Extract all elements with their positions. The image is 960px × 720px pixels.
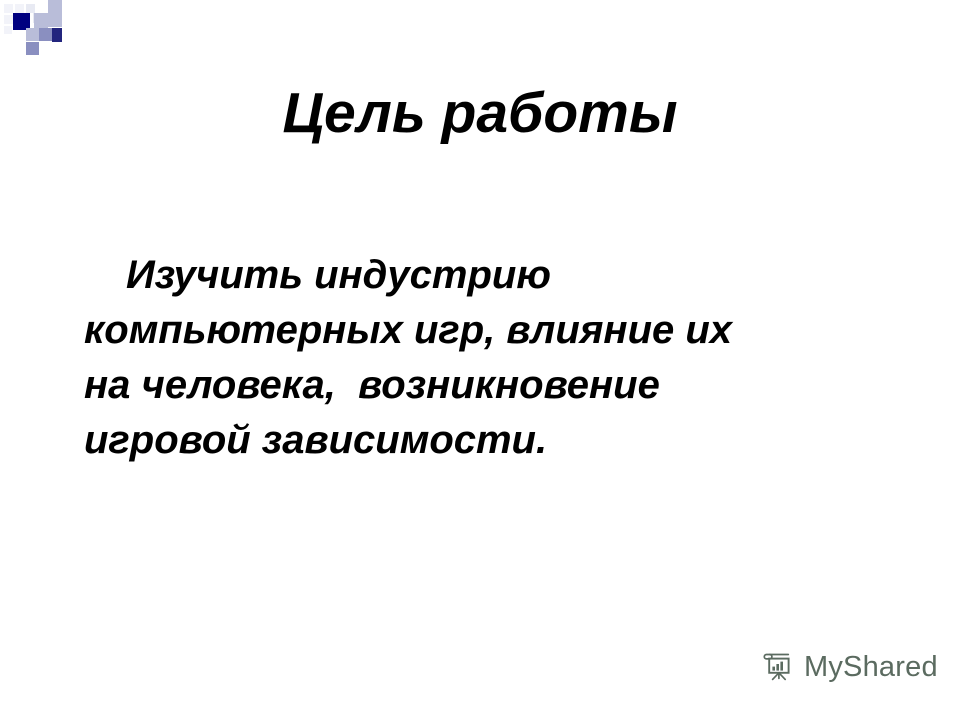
flipchart-bar-chart-icon [762,650,796,684]
body-line: компьютерных игр, влияние их [84,303,914,358]
presentation-slide: Цель работы Изучить индустрию компьютерн… [0,0,960,720]
slide-title: Цель работы [0,82,960,146]
slide-body: Изучить индустрию компьютерных игр, влия… [84,248,914,468]
mosaic-square [26,4,35,13]
mosaic-square [48,13,62,27]
body-line: игровой зависимости. [84,413,914,468]
mosaic-square [4,26,12,34]
slide-header-decoration [0,0,960,72]
mosaic-square [26,42,39,55]
header-gradient-bar [60,13,940,43]
body-line: Изучить индустрию [84,248,914,303]
mosaic-square [4,15,13,24]
mosaic-square [39,28,52,41]
myshared-watermark: MyShared [762,650,938,684]
mosaic-square [34,13,48,28]
mosaic-square [4,4,13,13]
mosaic-square [48,0,62,13]
mosaic-square [15,4,24,13]
mosaic-square-accent [52,28,62,42]
body-line: на человека, возникновение [84,358,914,413]
watermark-label: MyShared [804,653,938,682]
mosaic-square [26,28,39,41]
